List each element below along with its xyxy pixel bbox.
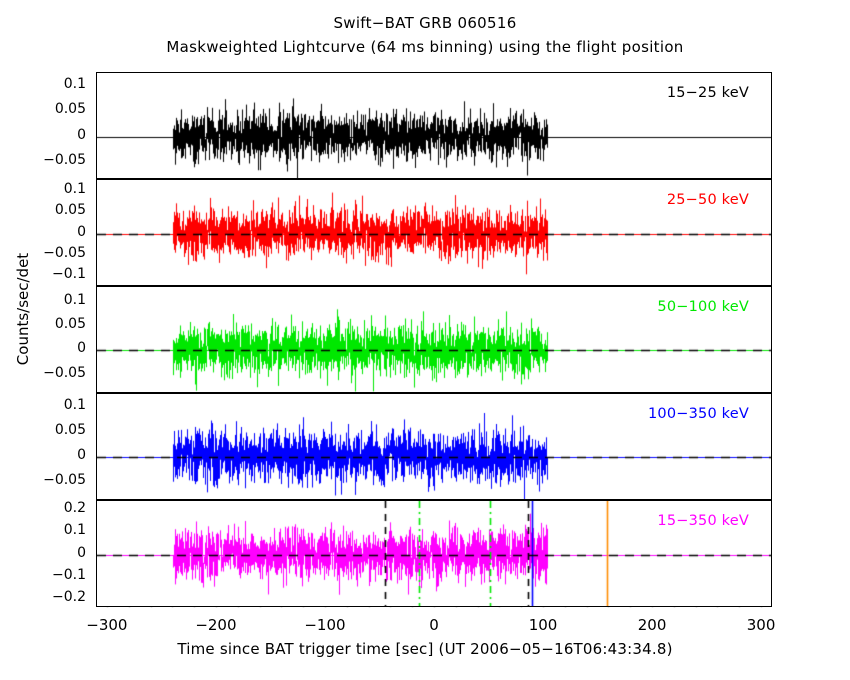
lightcurve-figure: Swift−BAT GRB 060516 Maskweighted Lightc… (0, 0, 850, 680)
y-tick-label: −0.1 (0, 266, 86, 282)
y-tick-label: 0.05 (0, 202, 86, 218)
plot-area: 15−25 keV25−50 keV50−100 keV100−350 keV1… (96, 72, 772, 608)
x-tick-label: 0 (389, 616, 479, 634)
x-tick-label: −100 (280, 616, 370, 634)
y-tick-label: 0.1 (0, 76, 86, 92)
lightcurve-panel-4: 100−350 keV (96, 393, 772, 500)
y-tick-label: −0.05 (0, 152, 86, 168)
x-tick-label: 300 (716, 616, 806, 634)
x-tick-label: 100 (498, 616, 588, 634)
lightcurve-panel-5: 15−350 keV (96, 500, 772, 607)
y-tick-label: 0.05 (0, 101, 86, 117)
y-tick-label: −0.2 (0, 589, 86, 605)
lightcurve-panel-1: 15−25 keV (96, 72, 772, 179)
y-tick-label: 0.1 (0, 522, 86, 538)
y-tick-label: 0 (0, 127, 86, 143)
y-tick-label: −0.05 (0, 472, 86, 488)
figure-title-block: Swift−BAT GRB 060516 Maskweighted Lightc… (0, 16, 850, 55)
panel-energy-label-3: 50−100 keV (657, 299, 749, 315)
y-tick-label: 0.1 (0, 292, 86, 308)
y-tick-label: 0 (0, 340, 86, 356)
y-tick-label: 0 (0, 447, 86, 463)
x-axis-label: Time since BAT trigger time [sec] (UT 20… (0, 640, 850, 658)
y-tick-label: 0.1 (0, 397, 86, 413)
y-tick-label: 0 (0, 545, 86, 561)
y-tick-label: 0.05 (0, 316, 86, 332)
y-tick-label: 0.05 (0, 422, 86, 438)
figure-title: Swift−BAT GRB 060516 (0, 16, 850, 31)
y-tick-label: −0.05 (0, 365, 86, 381)
panel-energy-label-2: 25−50 keV (667, 192, 749, 208)
y-tick-label: 0.1 (0, 181, 86, 197)
y-tick-label: 0 (0, 224, 86, 240)
y-tick-label: 0.2 (0, 500, 86, 516)
y-tick-label: −0.05 (0, 245, 86, 261)
x-tick-label: −200 (171, 616, 261, 634)
panel-energy-label-5: 15−350 keV (657, 513, 749, 529)
y-axis-label: Counts/sec/det (14, 189, 32, 429)
y-tick-label: −0.1 (0, 567, 86, 583)
x-tick-label: 200 (607, 616, 697, 634)
lightcurve-panel-3: 50−100 keV (96, 286, 772, 393)
panel-energy-label-4: 100−350 keV (648, 406, 749, 422)
x-tick-label: −300 (62, 616, 152, 634)
figure-subtitle: Maskweighted Lightcurve (64 ms binning) … (0, 40, 850, 55)
lightcurve-panel-2: 25−50 keV (96, 179, 772, 286)
panel-energy-label-1: 15−25 keV (667, 85, 749, 101)
